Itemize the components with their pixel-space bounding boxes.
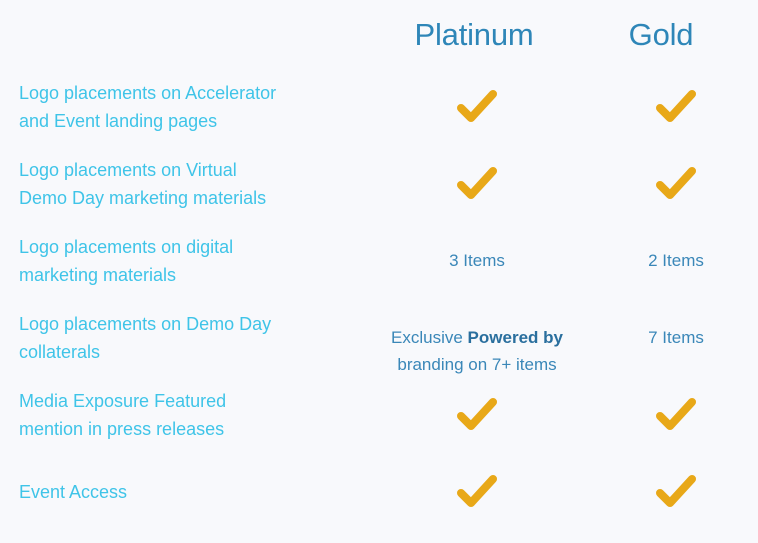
cell-gold <box>588 376 758 453</box>
feature-label: Logo placements on digital marketing mat… <box>0 233 372 289</box>
cell-value-gold: 7 Items <box>648 324 704 351</box>
tier-column-header-platinum: Platinum <box>372 19 582 50</box>
check-icon <box>457 475 497 509</box>
cell-gold <box>588 453 758 530</box>
table-row: Logo placements on digital marketing mat… <box>0 222 758 299</box>
check-icon <box>656 167 696 201</box>
table-body: Logo placements on Accelerator and Event… <box>0 68 758 530</box>
tier-heading-gold: Gold <box>629 17 712 52</box>
feature-label: Logo placements on Accelerator and Event… <box>0 79 372 135</box>
cell-platinum <box>372 68 588 145</box>
cell-platinum <box>372 376 588 453</box>
cell-gold: 7 Items <box>588 299 758 376</box>
feature-label: Logo placements on Virtual Demo Day mark… <box>0 156 372 212</box>
cell-value-platinum: Exclusive Powered by branding on 7+ item… <box>391 297 563 378</box>
table-row: Event Access <box>0 453 758 530</box>
cell-value-part: branding on 7+ items <box>397 355 556 374</box>
sponsorship-tier-comparison-table: Platinum Gold Logo placements on Acceler… <box>0 0 758 543</box>
feature-label: Event Access <box>0 478 372 506</box>
cell-gold <box>588 145 758 222</box>
cell-platinum <box>372 145 588 222</box>
check-icon <box>656 398 696 432</box>
check-icon <box>457 90 497 124</box>
cell-value-platinum: 3 Items <box>449 247 505 274</box>
table-header-row: Platinum Gold <box>0 0 758 68</box>
tier-column-header-gold: Gold <box>582 19 758 50</box>
cell-value-part: Exclusive <box>391 328 468 347</box>
check-icon <box>656 90 696 124</box>
cell-gold <box>588 68 758 145</box>
check-icon <box>656 475 696 509</box>
cell-platinum: 3 Items <box>372 222 588 299</box>
table-row: Media Exposure Featured mention in press… <box>0 376 758 453</box>
cell-platinum <box>372 453 588 530</box>
table-row: Logo placements on Accelerator and Event… <box>0 68 758 145</box>
feature-label: Logo placements on Demo Day collaterals <box>0 310 372 366</box>
cell-platinum: Exclusive Powered by branding on 7+ item… <box>372 299 588 376</box>
cell-gold: 2 Items <box>588 222 758 299</box>
feature-label: Media Exposure Featured mention in press… <box>0 387 372 443</box>
check-icon <box>457 398 497 432</box>
tier-heading-platinum: Platinum <box>414 17 539 52</box>
table-row: Logo placements on Virtual Demo Day mark… <box>0 145 758 222</box>
table-row: Logo placements on Demo Day collaterals … <box>0 299 758 376</box>
cell-value-gold: 2 Items <box>648 247 704 274</box>
cell-value-part-bold: Powered by <box>468 328 563 347</box>
check-icon <box>457 167 497 201</box>
